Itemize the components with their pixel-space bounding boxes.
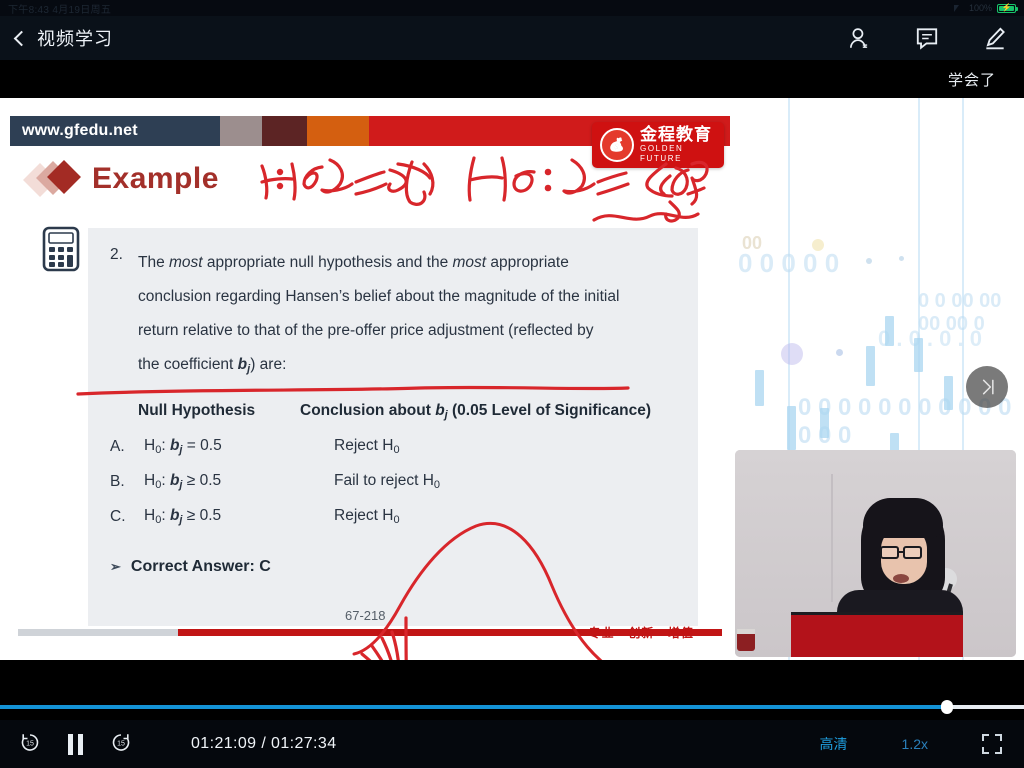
slide-slogan: 专业 · 创新 · 增值 [589,624,694,641]
playback-controls: 15 15 [0,730,133,759]
quality-button[interactable]: 高清 [820,734,848,754]
battery-charging-icon: ⚡ [997,4,1016,13]
comment-icon[interactable] [914,25,940,51]
correct-answer-row: ➢ Correct Answer: C [110,558,676,576]
logo-en-text: GOLDEN FUTURE [640,144,724,165]
wifi-icon [954,4,964,12]
time-display: 01:21:09 / 01:27:34 [191,735,337,753]
back-chevron-icon[interactable] [14,30,30,46]
controls-row: 15 15 01:21:09 / 01:27:34 高清 1.2x [0,720,1024,768]
slide-url-label: www.gfedu.net [10,116,220,146]
fullscreen-icon[interactable] [982,734,1002,754]
option-letter: B. [110,473,144,491]
next-slide-icon[interactable] [966,366,1008,408]
arrow-bullet-icon: ➢ [110,559,121,575]
svg-text:15: 15 [26,740,34,747]
learned-button[interactable]: 学会了 [948,69,996,90]
option-letter: A. [110,438,144,456]
question-box: 2. The most appropriate null hypothesis … [88,228,698,626]
battery-percent-label: 100% [969,3,992,13]
option-hypothesis: H0: bj = 0.5 [144,437,334,456]
option-conclusion: Reject H0 [334,507,400,526]
question-text: The most appropriate null hypothesis and… [138,246,619,386]
slide-page-number: 67-218 [345,608,385,623]
diamond-bullets-icon [28,163,80,195]
status-time-date: 下午8:43 4月19日周五 [8,1,111,16]
option-conclusion: Fail to reject H0 [334,472,440,491]
calculator-icon [42,226,80,272]
progress-bar[interactable] [0,705,1024,709]
status-bar: 下午8:43 4月19日周五 100% ⚡ [0,0,1024,16]
option-conclusion: Reject H0 [334,437,400,456]
progress-fill [0,705,947,709]
forward-15-icon[interactable]: 15 [109,730,133,759]
slide-logo: 金程教育 GOLDEN FUTURE [592,122,724,168]
nav-actions [846,25,1008,51]
logo-cn-text: 金程教育 [640,126,724,144]
lecture-slide: www.gfedu.net 金程教育 GOLDEN FUTURE Example [10,116,730,644]
question-number: 2. [110,246,128,386]
svg-text:15: 15 [117,740,125,747]
option-hypothesis: H0: bj ≥ 0.5 [144,472,334,491]
status-bar-left: 下午8:43 4月19日周五 [8,1,111,16]
question-line-1: 2. The most appropriate null hypothesis … [110,246,676,386]
video-player-controls: 15 15 01:21:09 / 01:27:34 高清 1.2x [0,660,1024,768]
options-table-header: Null Hypothesis Conclusion about bj (0.0… [110,402,676,421]
slide-footer: 67-218 专业 · 创新 · 增值 [10,610,730,644]
speed-button[interactable]: 1.2x [902,736,928,752]
col-header-null-hypothesis: Null Hypothesis [110,402,300,421]
option-letter: C. [110,508,144,526]
example-title: Example [92,162,219,196]
pause-icon[interactable] [68,734,83,755]
page-title: 视频学习 [37,25,113,51]
col-header-conclusion: Conclusion about bj (0.05 Level of Signi… [300,402,651,421]
correct-answer-text: Correct Answer: C [131,558,271,576]
option-hypothesis: H0: bj ≥ 0.5 [144,507,334,526]
seal-icon [600,128,634,162]
pen-edit-icon[interactable] [982,25,1008,51]
top-nav-bar: 视频学习 [0,16,1024,60]
video-learning-screen: 下午8:43 4月19日周五 100% ⚡ 视频学习 [0,0,1024,768]
example-heading: Example [28,162,219,196]
option-row-b[interactable]: B. H0: bj ≥ 0.5 Fail to reject H0 [110,472,676,491]
status-bar-right: 100% ⚡ [954,3,1016,13]
option-row-a[interactable]: A. H0: bj = 0.5 Reject H0 [110,437,676,456]
rewind-15-icon[interactable]: 15 [18,730,42,759]
right-controls: 高清 1.2x [820,734,1024,754]
profile-icon[interactable] [846,25,872,51]
progress-handle[interactable] [941,700,953,714]
learned-bar: 学会了 [0,60,1024,98]
option-row-c[interactable]: C. H0: bj ≥ 0.5 Reject H0 [110,507,676,526]
presenter-video-thumbnail[interactable] [735,450,1016,657]
